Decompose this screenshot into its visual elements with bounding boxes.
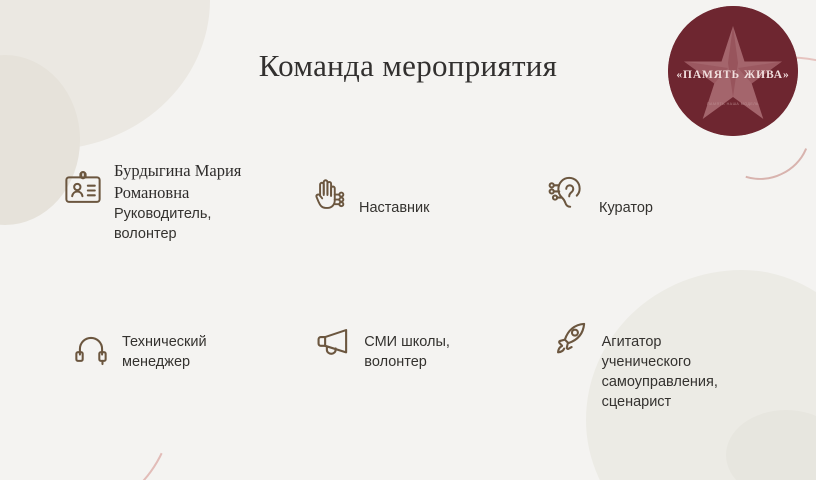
team-member-mentor: Наставник: [305, 160, 545, 310]
megaphone-icon: [310, 318, 356, 364]
team-member-curator: Куратор: [545, 160, 780, 310]
technical-labels: Технический менеджер: [122, 310, 207, 372]
agitator-labels: Агитатор ученического самоуправления, сц…: [602, 310, 718, 412]
team-row-1: Бурдыгина Мария Романовна Руководитель, …: [60, 160, 780, 310]
member-role: СМИ школы, волонтер: [364, 332, 450, 372]
member-name: Бурдыгина Мария Романовна: [114, 160, 305, 204]
member-role: Агитатор ученического самоуправления, сц…: [602, 332, 718, 412]
team-row-2: Технический менеджер СМИ школы, волонтер: [60, 310, 780, 440]
presentation-slide: «ПАМЯТЬ ЖИВА» ПАМЯТЬ НАША МОДЕЛЬ Команда…: [0, 0, 816, 480]
curator-labels: Куратор: [599, 160, 653, 218]
member-role: Куратор: [599, 198, 653, 218]
team-grid: Бурдыгина Мария Романовна Руководитель, …: [60, 160, 780, 440]
page-title: Команда мероприятия: [0, 48, 816, 84]
team-member-smi: СМИ школы, волонтер: [310, 310, 547, 440]
smi-labels: СМИ школы, волонтер: [364, 310, 450, 372]
hand-circuit-icon: [305, 172, 351, 218]
headphones-icon: [68, 326, 114, 372]
leader-labels: Бурдыгина Мария Романовна Руководитель, …: [114, 160, 305, 244]
member-role: Наставник: [359, 198, 429, 218]
mentor-labels: Наставник: [359, 160, 429, 218]
team-member-agitator: Агитатор ученического самоуправления, сц…: [548, 310, 780, 440]
id-badge-icon: [60, 164, 106, 210]
member-role: Технический менеджер: [122, 332, 207, 372]
team-member-leader: Бурдыгина Мария Романовна Руководитель, …: [60, 160, 305, 310]
team-member-technical: Технический менеджер: [60, 310, 310, 440]
logo-subtext: ПАМЯТЬ НАША МОДЕЛЬ: [707, 102, 759, 106]
ear-circuit-icon: [545, 168, 591, 214]
member-role: Руководитель, волонтер: [114, 204, 305, 244]
rocket-icon: [548, 314, 594, 360]
